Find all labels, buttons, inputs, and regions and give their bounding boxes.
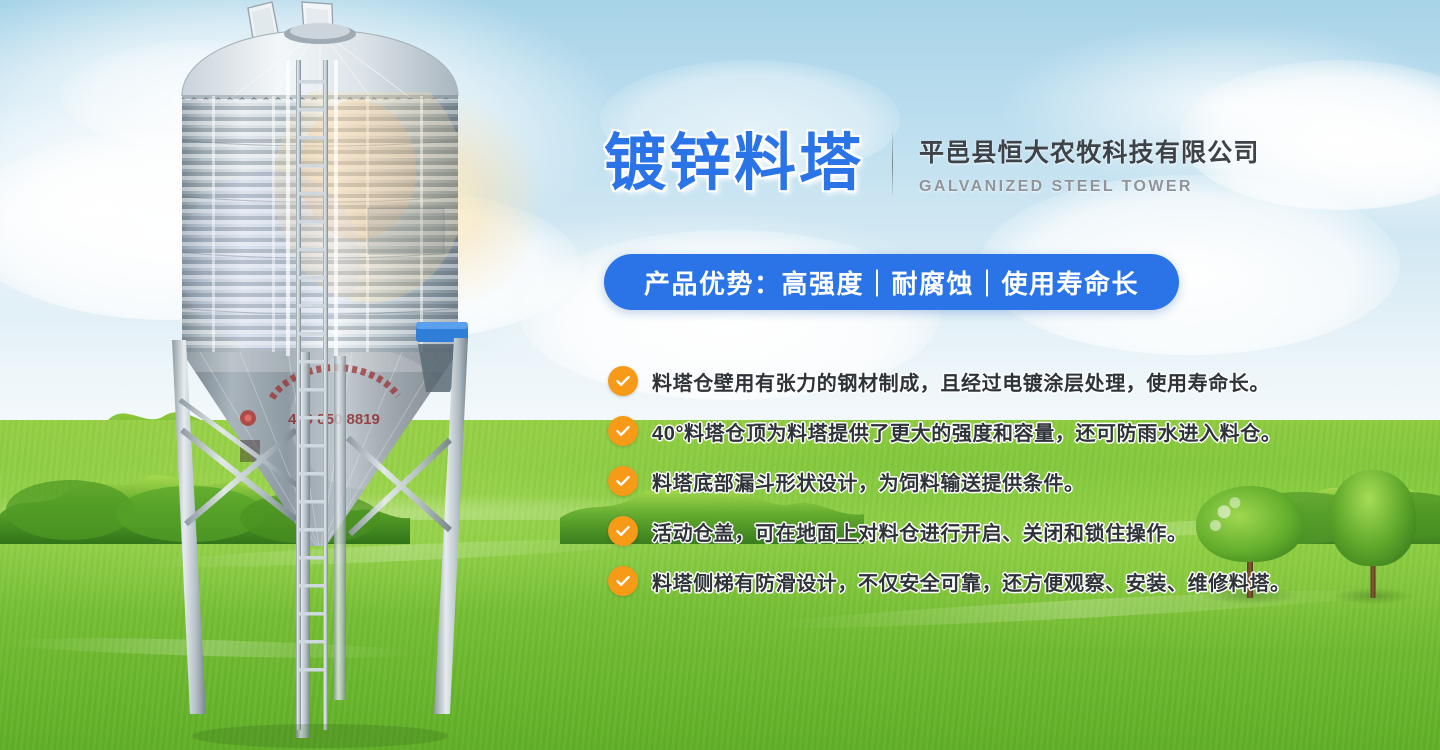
feature-text: 料塔底部漏斗形状设计，为饲料输送提供条件。 bbox=[652, 467, 1085, 496]
list-item: 40°料塔仓顶为料塔提供了更大的强度和容量，还可防雨水进入料仓。 bbox=[608, 406, 1438, 456]
advantage-pill: 产品优势：高强度｜耐腐蚀｜使用寿命长 bbox=[604, 254, 1179, 310]
title-divider bbox=[892, 133, 893, 195]
silo-roof bbox=[182, 23, 458, 103]
hero-banner: 400 850 8819 bbox=[0, 0, 1440, 750]
product-image-silo: 400 850 8819 bbox=[120, 0, 520, 750]
advantage-pill-text: 产品优势：高强度｜耐腐蚀｜使用寿命长 bbox=[644, 264, 1139, 301]
check-circle-icon bbox=[608, 516, 638, 546]
title-row: 镀锌料塔 平邑县恒大农牧科技有限公司 GALVANIZED STEEL TOWE… bbox=[604, 118, 1260, 210]
company-name: 平邑县恒大农牧科技有限公司 bbox=[919, 133, 1260, 169]
list-item: 活动仓盖，可在地面上对料仓进行开启、关闭和锁住操作。 bbox=[608, 506, 1438, 556]
silo-horizontal-braces bbox=[178, 556, 454, 606]
page-title: 镀锌料塔 bbox=[604, 133, 864, 195]
feature-text: 活动仓盖，可在地面上对料仓进行开启、关闭和锁住操作。 bbox=[652, 517, 1188, 546]
list-item: 料塔仓壁用有张力的钢材制成，且经过电镀涂层处理，使用寿命长。 bbox=[608, 356, 1438, 406]
company-name-en: GALVANIZED STEEL TOWER bbox=[919, 178, 1260, 196]
list-item: 料塔底部漏斗形状设计，为饲料输送提供条件。 bbox=[608, 456, 1438, 506]
silo-cone-hopper: 400 850 8819 bbox=[182, 350, 458, 546]
check-circle-icon bbox=[608, 416, 638, 446]
feature-text: 料塔侧梯有防滑设计，不仅安全可靠，还方便观察、安装、维修料塔。 bbox=[652, 567, 1291, 596]
check-circle-icon bbox=[608, 566, 638, 596]
banner-content: 镀锌料塔 平邑县恒大农牧科技有限公司 GALVANIZED STEEL TOWE… bbox=[604, 0, 1440, 750]
list-item: 料塔侧梯有防滑设计，不仅安全可靠，还方便观察、安装、维修料塔。 bbox=[608, 556, 1438, 606]
feature-list: 料塔仓壁用有张力的钢材制成，且经过电镀涂层处理，使用寿命长。 40°料塔仓顶为料… bbox=[608, 356, 1438, 606]
check-circle-icon bbox=[608, 366, 638, 396]
feature-text: 40°料塔仓顶为料塔提供了更大的强度和容量，还可防雨水进入料仓。 bbox=[652, 417, 1281, 446]
company-name-block: 平邑县恒大农牧科技有限公司 GALVANIZED STEEL TOWER bbox=[919, 133, 1260, 196]
feature-text: 料塔仓壁用有张力的钢材制成，且经过电镀涂层处理，使用寿命长。 bbox=[652, 367, 1270, 396]
check-circle-icon bbox=[608, 466, 638, 496]
